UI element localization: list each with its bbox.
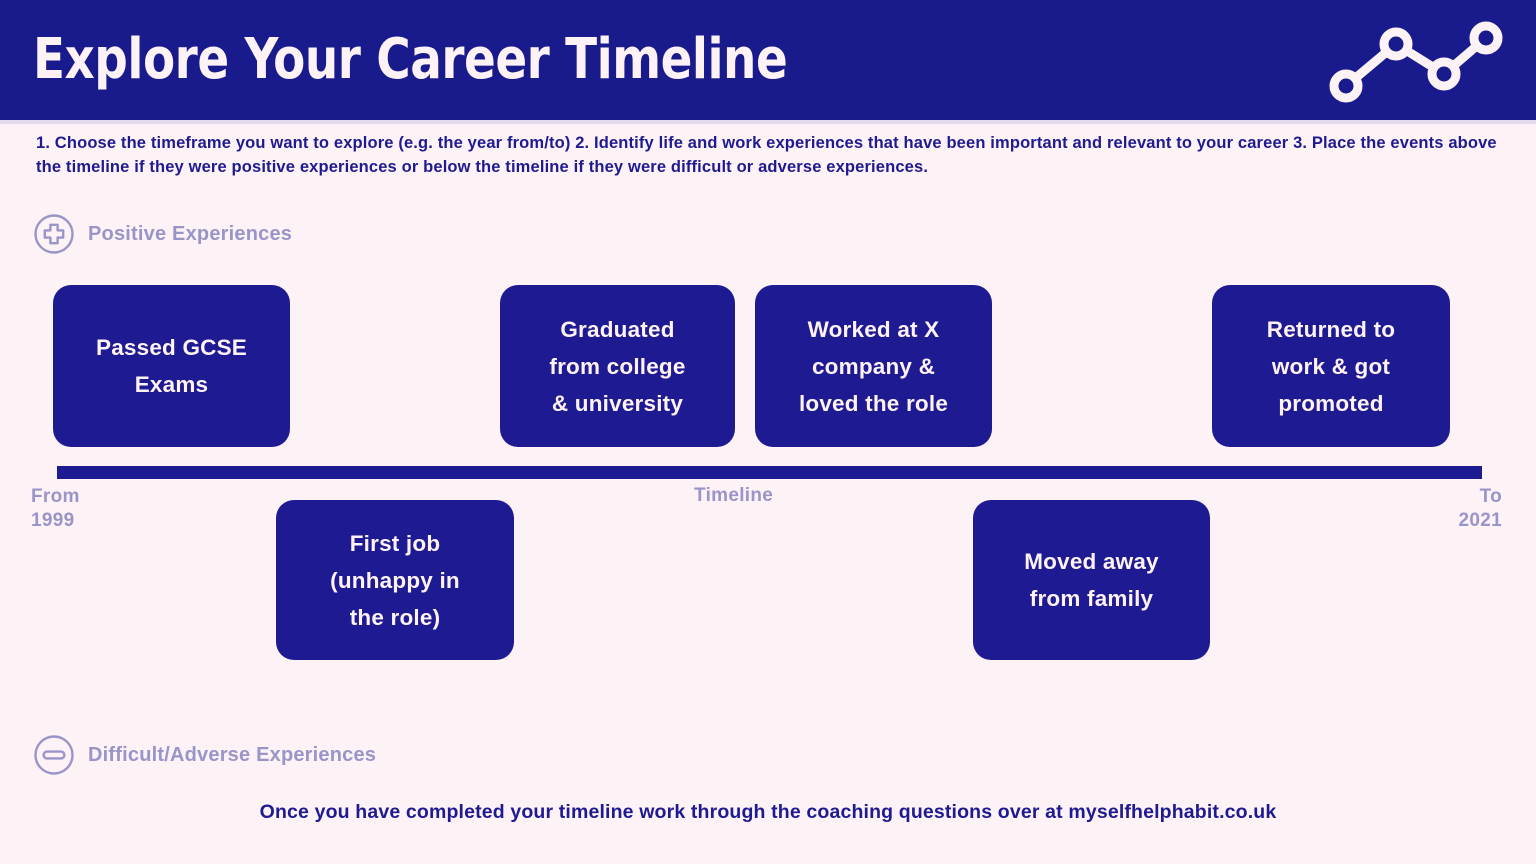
timeline-start: From 1999 (31, 485, 80, 533)
footer-note: Once you have completed your timeline wo… (0, 801, 1536, 824)
timeline-end: To 2021 (1459, 485, 1502, 533)
event-card-text: Graduated from college & university (549, 311, 685, 422)
event-card-positive-2[interactable]: Graduated from college & university (500, 285, 735, 447)
timeline-end-label: To (1459, 485, 1502, 509)
instructions-text: 1. Choose the timeframe you want to expl… (36, 131, 1502, 179)
adverse-experiences-text: Difficult/Adverse Experiences (88, 744, 376, 767)
timeline-bar (57, 466, 1482, 479)
event-card-text: Passed GCSE Exams (96, 329, 247, 403)
event-card-positive-4[interactable]: Returned to work & got promoted (1212, 285, 1450, 447)
timeline-end-value: 2021 (1459, 509, 1502, 533)
adverse-experiences-label: Difficult/Adverse Experiences (33, 734, 376, 776)
header-underline (0, 120, 1536, 124)
timeline-start-label: From (31, 485, 80, 509)
plus-circle-icon (33, 213, 75, 255)
timeline-start-value: 1999 (31, 509, 80, 533)
page-title: Explore Your Career Timeline (33, 18, 787, 102)
line-chart-icon (1306, 18, 1506, 104)
positive-experiences-label: Positive Experiences (33, 213, 292, 255)
event-card-adverse-1[interactable]: First job (unhappy in the role) (276, 500, 514, 660)
positive-experiences-text: Positive Experiences (88, 223, 292, 246)
event-card-text: First job (unhappy in the role) (330, 525, 460, 636)
event-card-positive-1[interactable]: Passed GCSE Exams (53, 285, 290, 447)
event-card-positive-3[interactable]: Worked at X company & loved the role (755, 285, 992, 447)
minus-circle-icon (33, 734, 75, 776)
event-card-text: Moved away from family (1024, 543, 1159, 617)
event-card-text: Returned to work & got promoted (1267, 311, 1395, 422)
event-card-adverse-2[interactable]: Moved away from family (973, 500, 1210, 660)
event-card-text: Worked at X company & loved the role (799, 311, 948, 422)
timeline-caption: Timeline (694, 485, 773, 507)
